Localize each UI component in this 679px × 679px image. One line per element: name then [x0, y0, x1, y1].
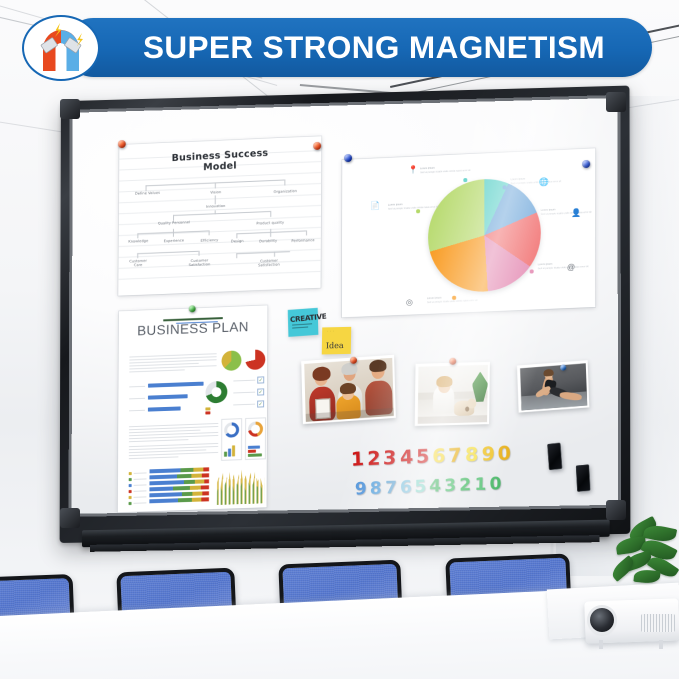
pie-callout-1: Lorem ipsum Sed ut perspic iciatis unde …	[420, 165, 470, 174]
node-innovation: Innovation	[195, 203, 237, 209]
checkbox-icon: ✓	[257, 376, 264, 383]
node-product-quality: Product quality	[246, 220, 294, 226]
pie-dot-green	[416, 209, 420, 213]
bsm-tree: Define Values Vision Organization Innova…	[123, 176, 316, 291]
magnetic-number-8[interactable]: 8	[465, 446, 478, 466]
frame-corner-bottom-left	[60, 508, 80, 528]
magnetic-numbers-row-2[interactable]: 9876543210	[355, 476, 501, 499]
projector-leg	[659, 640, 663, 649]
business-plan-poster[interactable]: BUSINESS PLAN	[118, 305, 268, 512]
rectangular-magnet-2[interactable]	[576, 464, 591, 491]
magnetic-number-3[interactable]: 3	[444, 478, 456, 496]
node-knowledge: Knowledge	[123, 239, 153, 245]
document-icon: 📄	[370, 202, 380, 210]
magnetic-number-5[interactable]: 5	[416, 448, 429, 468]
magnetic-number-8[interactable]: 8	[370, 481, 382, 499]
promo-banner: SUPER STRONG MAGNETISM	[22, 15, 654, 81]
poster-bar-3	[148, 406, 181, 411]
magnetic-number-5[interactable]: 5	[414, 479, 426, 497]
frame-corner-top-left	[60, 99, 80, 119]
poster-stacked-bar	[149, 491, 209, 497]
photo-family[interactable]	[301, 355, 396, 424]
sticky-note-creative[interactable]: CREATIVE	[288, 308, 319, 337]
photo-child-dog-image	[417, 364, 487, 423]
poster-stacked-bar	[149, 485, 209, 491]
magnetic-number-3[interactable]: 3	[383, 449, 397, 468]
magnetic-number-9[interactable]: 9	[355, 481, 367, 499]
pie-callout-5: Lorem ipsum Sed ut perspic iciatis unde …	[427, 295, 477, 304]
location-pin-icon: 📍	[408, 166, 418, 174]
magnetic-number-6[interactable]: 6	[399, 479, 411, 497]
business-success-model-sheet[interactable]: Business Success Model Define Values Vis…	[118, 136, 321, 296]
node-customer-satisfaction-right: Customer Satisfaction	[252, 258, 286, 268]
banner-pill: SUPER STRONG MAGNETISM	[64, 18, 652, 77]
node-performance: Performance	[286, 238, 320, 244]
poster-stacked-bar	[149, 479, 209, 485]
poster-bar-1	[148, 382, 204, 388]
poster-pie-green	[222, 350, 242, 371]
poster-stacked-bar	[150, 473, 210, 479]
projector-lens-icon	[590, 608, 614, 632]
pie-graphic	[428, 177, 541, 294]
magnetic-number-2[interactable]: 2	[459, 477, 471, 495]
projector-leg	[599, 640, 603, 649]
pie-chart-sheet[interactable]: 📍 Lorem ipsum Sed ut perspic iciatis und…	[342, 148, 595, 317]
frame-corner-bottom-right	[606, 500, 626, 520]
magnetic-number-2[interactable]: 2	[367, 450, 380, 470]
magnetic-number-1[interactable]: 1	[351, 450, 365, 470]
poster-pie-red	[245, 349, 265, 370]
green-potted-plant	[598, 520, 679, 610]
node-efficiency: Efficiency	[195, 238, 225, 244]
pie-callout-2: Lorem ipsum Sed ut perspic iciatis unde …	[511, 176, 562, 185]
photo-family-image	[304, 357, 394, 421]
sticky-creative-label: CREATIVE	[288, 307, 319, 324]
node-customer-satisfaction-mid: Customer Satisfaction	[183, 258, 217, 268]
magnetic-number-0[interactable]: 0	[489, 476, 501, 494]
photo-fitness-image	[520, 363, 587, 410]
node-experience: Experience	[157, 238, 191, 244]
whiteboard-surface[interactable]: Business Success Model Define Values Vis…	[72, 98, 619, 514]
node-design: Design	[226, 239, 248, 244]
node-quality-personnel: Quality Personnel	[149, 220, 199, 226]
magnetic-number-9[interactable]: 9	[481, 445, 495, 464]
pie-dot-pink	[530, 269, 534, 273]
poster-stacked-bar	[150, 467, 210, 473]
node-vision: Vision	[199, 190, 233, 196]
pie-dot-red	[533, 215, 537, 219]
node-durability: Durability	[252, 238, 284, 244]
person-icon: 👤	[571, 209, 581, 217]
frame-corner-top-right	[606, 92, 626, 112]
pie-dot-teal	[463, 178, 467, 182]
magnetic-numbers-row-1[interactable]: 1234567890	[351, 444, 511, 469]
at-sign-icon: @	[567, 264, 575, 272]
magnetic-number-1[interactable]: 1	[474, 477, 486, 494]
sticky-note-idea[interactable]: ··· Idea	[322, 327, 351, 355]
magnetic-whiteboard[interactable]: Business Success Model Define Values Vis…	[58, 93, 628, 538]
pie-chart: 📍 Lorem ipsum Sed ut perspic iciatis und…	[342, 148, 595, 317]
pie-callout-4: Lorem ipsum Sed ut perspic iciatis unde …	[538, 261, 589, 270]
product-scene: Business Success Model Define Values Vis…	[0, 0, 679, 679]
magnetic-number-4[interactable]: 4	[429, 478, 441, 495]
node-organization: Organization	[264, 189, 306, 195]
magnetic-number-6[interactable]: 6	[432, 447, 446, 466]
target-icon: ◎	[406, 299, 413, 307]
pie-dot-blue	[503, 185, 507, 189]
magnetic-number-0[interactable]: 0	[497, 444, 511, 464]
projector-vents	[641, 614, 675, 632]
rectangular-magnet-1[interactable]	[547, 443, 562, 470]
banner-headline: SUPER STRONG MAGNETISM	[111, 29, 605, 66]
pie-callout-3: Lorem ipsum Sed ut perspic iciatis unde …	[541, 207, 592, 216]
photo-fitness[interactable]	[517, 360, 589, 413]
checkbox-icon: ✓	[257, 388, 264, 395]
poster-bar-2	[148, 394, 188, 399]
magnetic-number-7[interactable]: 7	[448, 446, 462, 466]
magnetic-number-7[interactable]: 7	[384, 480, 396, 497]
magnetic-number-4[interactable]: 4	[399, 448, 413, 468]
node-define-values: Define Values	[128, 190, 168, 196]
checkbox-icon: ✓	[257, 400, 264, 407]
horseshoe-magnet-icon	[22, 15, 100, 81]
poster-stacked-bar	[149, 497, 209, 503]
pie-callout-6: Lorem ipsum Sed ut perspic iciatis unde …	[388, 201, 438, 210]
globe-icon: 🌐	[539, 178, 549, 186]
node-customer-care: Customer Care	[123, 259, 153, 269]
sticky-idea-label: Idea	[322, 333, 351, 351]
photo-child-dog[interactable]	[415, 362, 490, 426]
